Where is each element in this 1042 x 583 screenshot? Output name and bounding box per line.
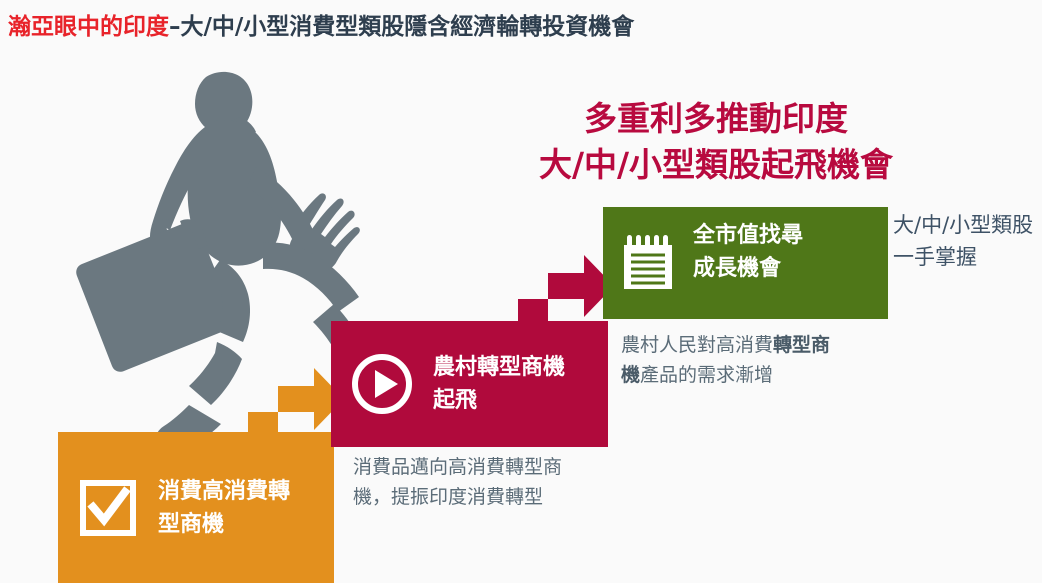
page-title-rest: –大/中/小型消費型類股隱含經濟輪轉投資機會 — [169, 14, 634, 40]
step-box-market-cap[interactable]: 全市值找尋成長機會 — [603, 207, 888, 319]
caption-run: 產品的需求漸增 — [640, 364, 773, 386]
side-note: 大/中/小型類股一手掌握 — [893, 209, 1042, 273]
page-title-highlight: 瀚亞眼中的印度 — [8, 14, 169, 40]
headline-line-1: 多重利多推動印度 — [466, 96, 966, 142]
caption-run: 消費品邁向高消費轉型商機，提振印度消費轉型 — [353, 456, 562, 508]
headline-line-2: 大/中/小型類股起飛機會 — [466, 142, 966, 188]
step-label-consumption: 消費高消費轉型商機 — [158, 475, 298, 541]
caption-rural: 農村人民對高消費轉型商機產品的需求漸增 — [621, 330, 836, 390]
headline: 多重利多推動印度 大/中/小型類股起飛機會 — [466, 96, 966, 188]
notepad-icon — [621, 233, 675, 291]
step-box-rural[interactable]: 農村轉型商機起飛 — [331, 321, 608, 447]
step-label-market-cap: 全市值找尋成長機會 — [693, 219, 823, 285]
caption-run: 農村人民對高消費 — [621, 334, 773, 356]
step-box-consumption[interactable]: 消費高消費轉型商機 — [58, 432, 334, 583]
play-circle-icon — [351, 353, 413, 415]
page-title: 瀚亞眼中的印度–大/中/小型消費型類股隱含經濟輪轉投資機會 — [8, 7, 634, 41]
caption-consumption: 消費品邁向高消費轉型商機，提振印度消費轉型 — [353, 452, 568, 512]
checkbox-check-icon — [80, 480, 136, 536]
step-label-rural: 農村轉型商機起飛 — [433, 351, 573, 417]
